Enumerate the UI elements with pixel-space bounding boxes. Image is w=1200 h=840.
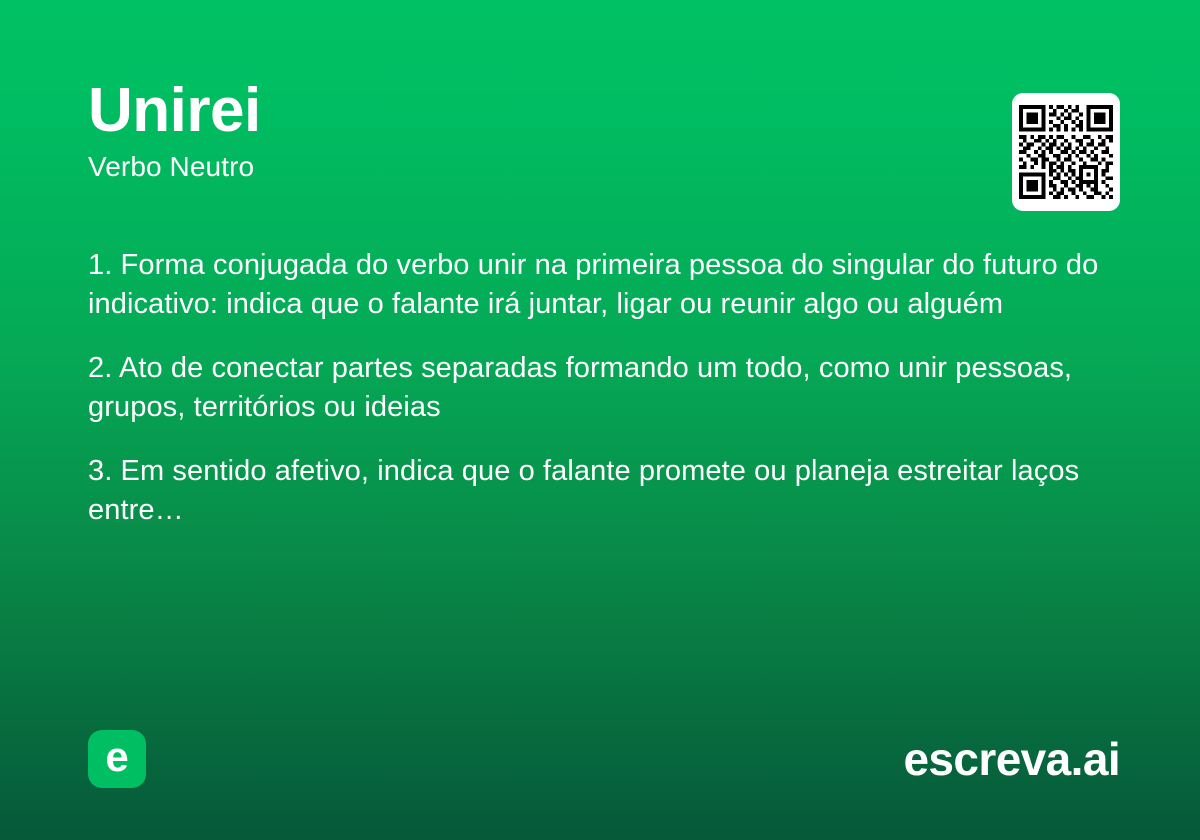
- qr-code-icon: [1019, 105, 1113, 199]
- definition-list: 1. Forma conjugada do verbo unir na prim…: [88, 246, 1112, 530]
- definition-item: 2. Ato de conectar partes separadas form…: [88, 349, 1112, 427]
- page-title: Unirei: [88, 80, 1112, 142]
- definition-item: 3. Em sentido afetivo, indica que o fala…: [88, 452, 1112, 530]
- card-footer: e escreva.ai: [88, 730, 1120, 788]
- word-class-label: Verbo Neutro: [88, 152, 1112, 183]
- definition-item: 1. Forma conjugada do verbo unir na prim…: [88, 246, 1112, 324]
- brand-name: escreva.ai: [903, 736, 1120, 782]
- dictionary-card: Unirei Verbo Neutro: [0, 0, 1200, 840]
- escreva-logo-icon: e: [88, 730, 146, 788]
- card-header: Unirei Verbo Neutro: [88, 80, 1112, 183]
- qr-code[interactable]: [1012, 93, 1120, 211]
